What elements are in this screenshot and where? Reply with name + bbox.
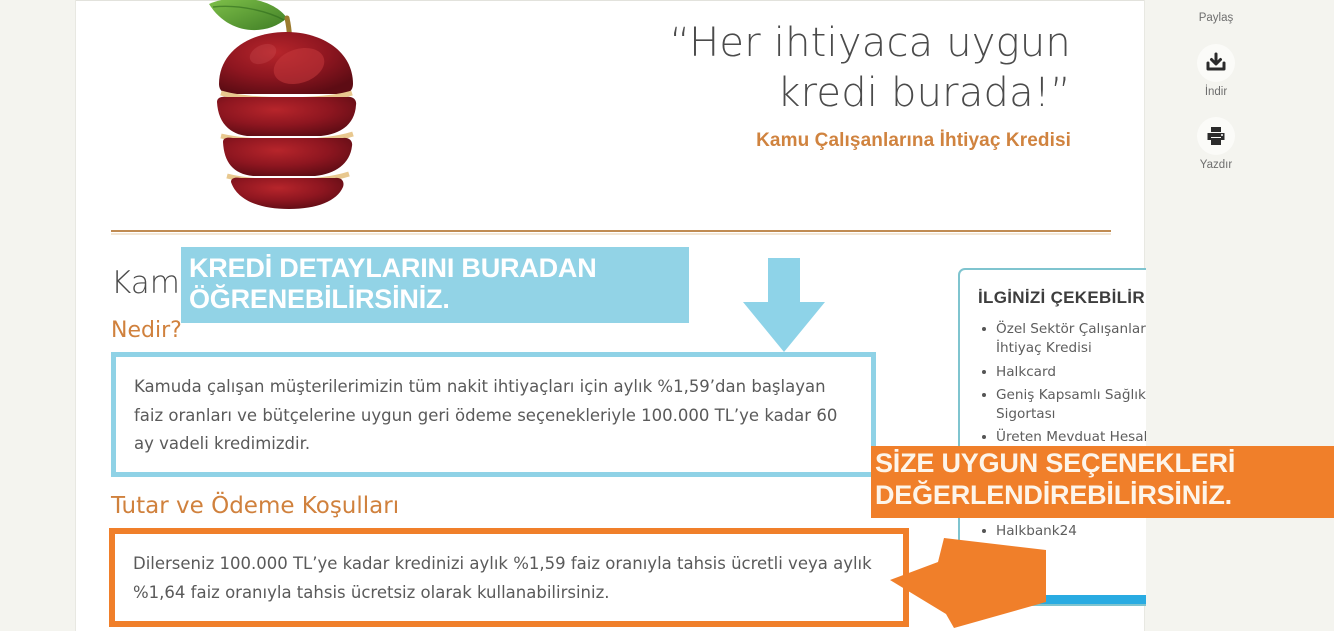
hero-divider (111, 230, 1111, 232)
annotation-orange-callout: SİZE UYGUN SEÇENEKLERİ DEĞERLENDİREBİLİR… (871, 446, 1334, 518)
hero-section: “Her ihtiyaca uygun kredi burada!” Kamu … (76, 0, 1146, 222)
annotation-orange-text: SİZE UYGUN SEÇENEKLERİ DEĞERLENDİREBİLİR… (875, 448, 1334, 512)
arrow-down-icon (737, 256, 831, 356)
hero-subtitle: Kamu Çalışanlarına İhtiyaç Kredisi (496, 130, 1071, 152)
download-button[interactable]: İndir (1156, 44, 1276, 98)
hero-divider-shadow (111, 233, 1111, 235)
section-body-nedir: Kamuda çalışan müşterilerimizin tüm naki… (134, 373, 853, 458)
annotation-blue-text: KREDİ DETAYLARINI BURADAN ÖĞRENEBİLİRSİN… (189, 253, 689, 316)
printer-icon (1197, 117, 1235, 155)
action-toolbar: Paylaş İndir Yazdır (1146, 0, 1334, 631)
download-label: İndir (1156, 86, 1276, 98)
hero-quote: “Her ihtiyaca uygun kredi burada!” (496, 18, 1071, 118)
annotation-blue-callout: KREDİ DETAYLARINI BURADAN ÖĞRENEBİLİRSİN… (181, 247, 689, 323)
section-heading-tutar: Tutar ve Ödeme Koşulları (111, 493, 871, 519)
arrow-left-icon (888, 536, 1048, 628)
highlight-box-nedir: Kamuda çalışan müşterilerimizin tüm naki… (111, 352, 876, 477)
print-label: Yazdır (1156, 159, 1276, 171)
share-button[interactable]: Paylaş (1156, 8, 1276, 24)
highlight-box-tutar: Dilerseniz 100.000 TL’ye kadar kredinizi… (109, 528, 909, 627)
share-label: Paylaş (1156, 12, 1276, 24)
screenshot-root: “Her ihtiyaca uygun kredi burada!” Kamu … (0, 0, 1334, 631)
hero-text-block: “Her ihtiyaca uygun kredi burada!” Kamu … (496, 18, 1071, 152)
download-icon (1197, 44, 1235, 82)
section-body-tutar: Dilerseniz 100.000 TL’ye kadar kredinizi… (133, 550, 885, 607)
apple-image (171, 0, 401, 217)
print-button[interactable]: Yazdır (1156, 117, 1276, 171)
